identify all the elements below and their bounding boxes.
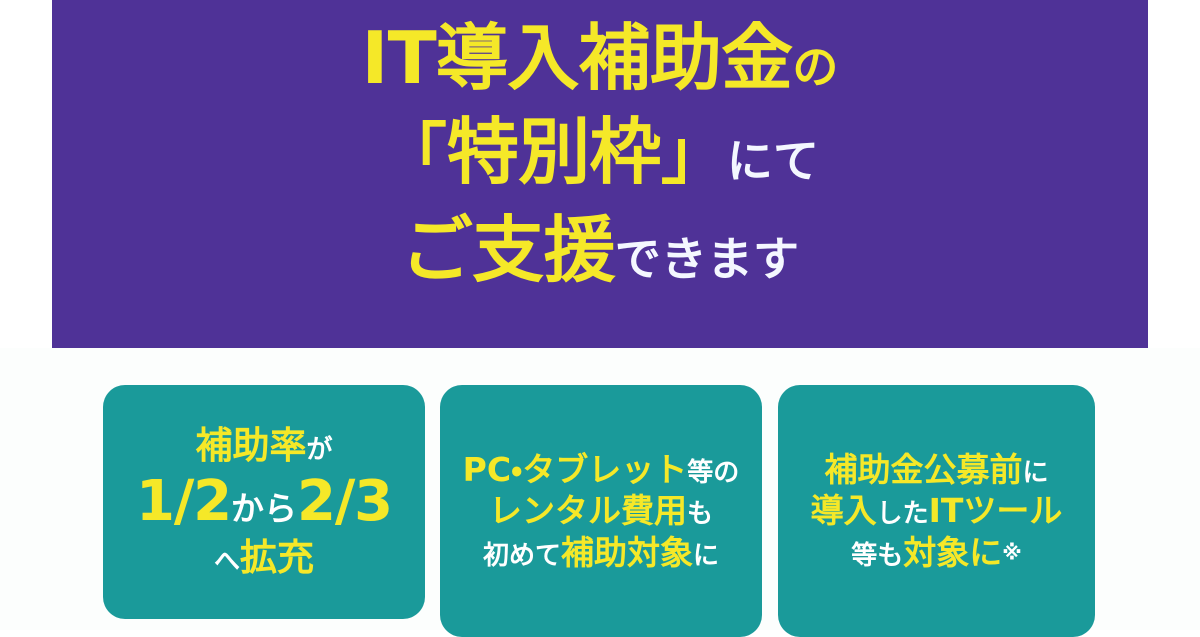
card-text-segment: 補助対象 <box>561 533 693 572</box>
card-text-segment: 1/2 <box>136 469 231 534</box>
feature-card-subsidy-rate: 補助率が1/2から2/3へ拡充 <box>103 385 425 619</box>
hero-line2-particle: にて <box>727 134 819 188</box>
card-text-segment: も <box>687 499 713 529</box>
card-text-segment: レンタル費用 <box>489 491 687 530</box>
card-text-segment: から <box>231 489 297 528</box>
hero-line2-close-bracket: 」 <box>661 116 727 193</box>
hero-line2-open-bracket: 「 <box>381 116 447 193</box>
card-text-line: 初めて補助対象に <box>483 535 719 571</box>
hero-headline-line-1: IT導入補助金の <box>362 22 839 94</box>
card-text-segment: が <box>306 435 332 465</box>
hero-headline-line-2: 「特別枠」にて <box>381 116 819 188</box>
hero-headline-line-3: ご支援できます <box>401 214 799 286</box>
card-text-segment: 補助金公募前 <box>824 450 1022 489</box>
card-text-segment: に <box>1022 458 1048 488</box>
feature-card-rental-cost: PC・タブレット等のレンタル費用も初めて補助対象に <box>440 385 762 637</box>
footnote-mark: ※ <box>1002 540 1021 564</box>
card-text-line: 等も対象に※ <box>851 535 1021 571</box>
card-text-segment: 初めて <box>483 541 561 571</box>
hero-line3-main: ご支援 <box>401 208 615 292</box>
card-text-segment: 等の <box>687 458 739 488</box>
card-text-segment: 補助率 <box>195 424 306 467</box>
card-text-segment: した <box>877 499 929 529</box>
card-text-line: PC・タブレット等の <box>463 452 740 488</box>
card-text-segment: 対象に <box>903 533 1002 572</box>
feature-cards-area: 補助率が1/2から2/3へ拡充 PC・タブレット等のレンタル費用も初めて補助対象… <box>0 348 1200 630</box>
card-text-segment: 拡充 <box>240 536 314 579</box>
feature-card-pre-application-tools: 補助金公募前に導入したITツール等も対象に※ <box>778 385 1095 637</box>
hero-line2-main: 特別枠 <box>447 110 661 194</box>
card-text-line: へ拡充 <box>214 538 314 578</box>
hero-line1-main: IT導入補助金 <box>362 16 793 100</box>
hero-banner: IT導入補助金の 「特別枠」にて ご支援できます <box>52 0 1148 348</box>
card-text-segment: 2/3 <box>297 469 392 534</box>
card-text-segment: に <box>693 541 719 571</box>
card-text-line: 1/2から2/3 <box>136 472 392 532</box>
card-text-segment: 導入 <box>811 491 877 530</box>
card-text-line: 補助金公募前に <box>824 452 1048 488</box>
card-text-segment: 等も <box>851 541 903 571</box>
card-text-segment: へ <box>214 547 240 577</box>
card-text-line: 導入したITツール <box>811 493 1063 529</box>
card-text-segment: ITツール <box>929 491 1063 530</box>
card-text-line: 補助率が <box>195 426 332 466</box>
card-text-line: レンタル費用も <box>489 493 713 529</box>
hero-line1-particle: の <box>792 40 838 94</box>
card-text-segment: PC・タブレット <box>463 450 688 489</box>
hero-line3-particle: できます <box>615 232 799 286</box>
